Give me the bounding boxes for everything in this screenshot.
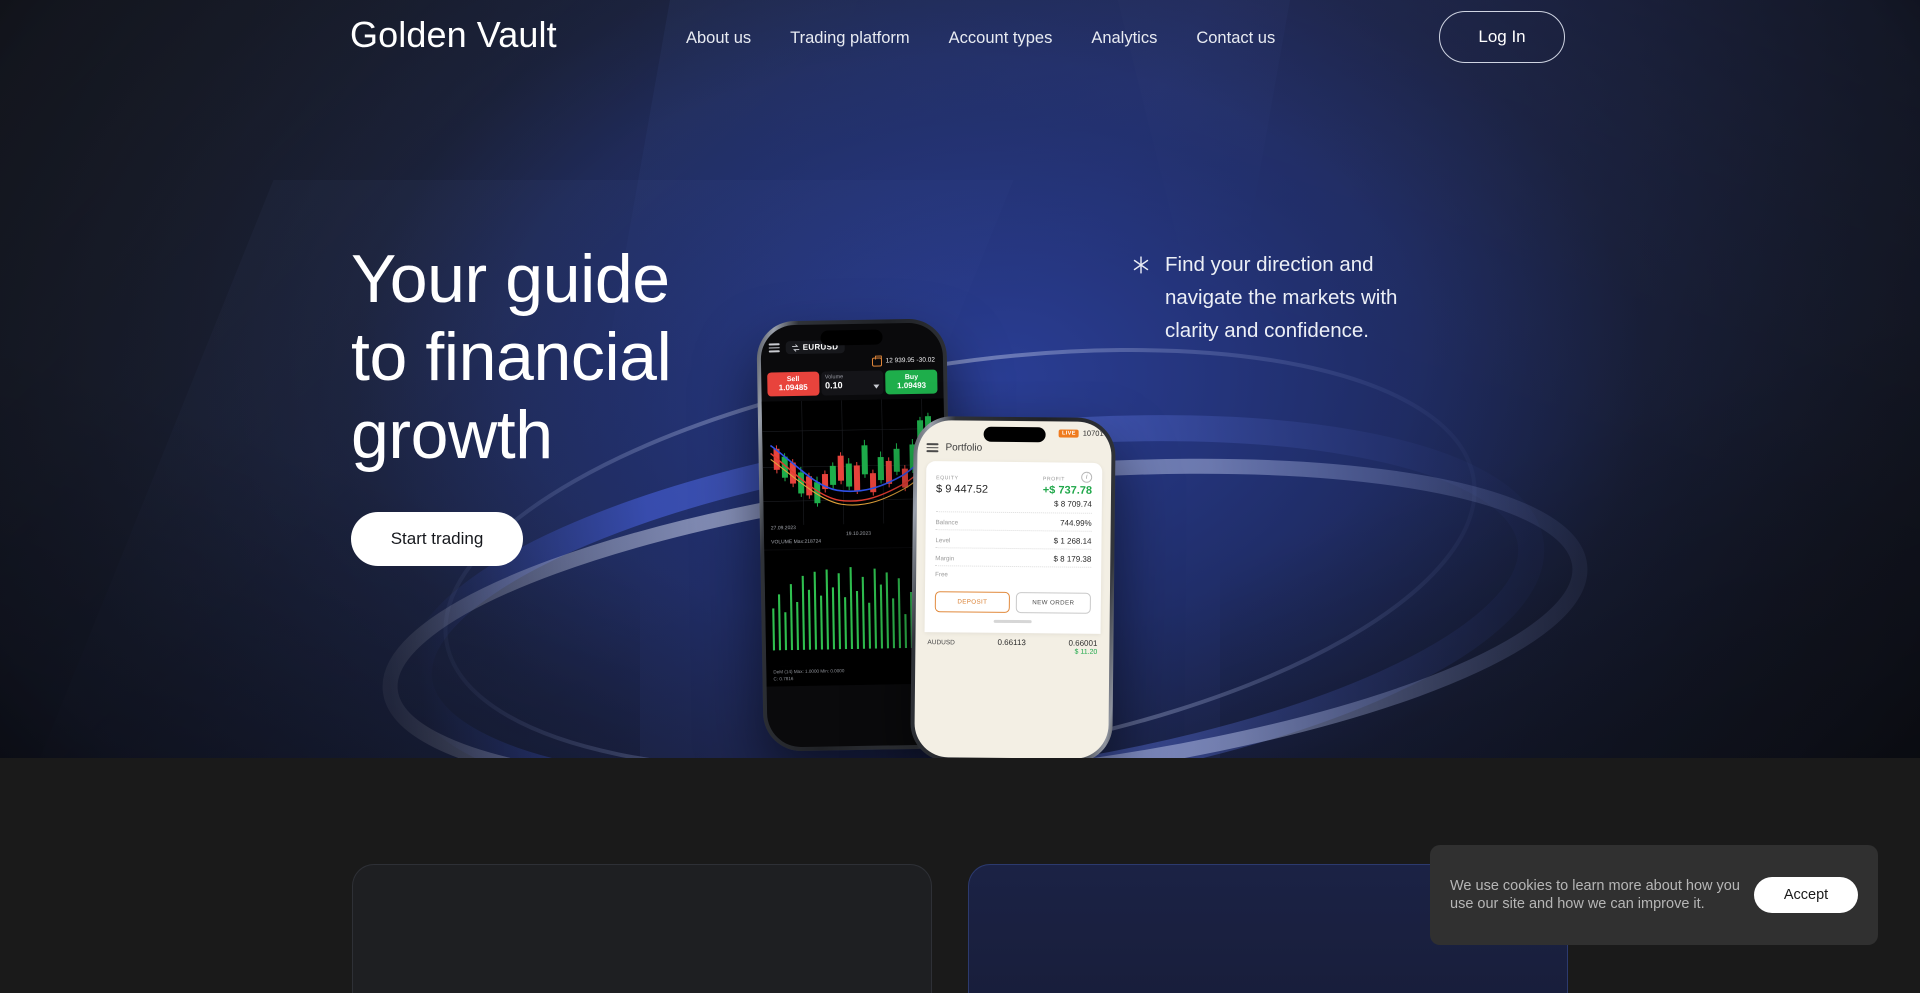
quote-bid: 0.66113	[997, 637, 1025, 646]
ticker-value: 10701	[1083, 429, 1104, 438]
row-value: $ 8 179.38	[1053, 554, 1091, 563]
portfolio-card: i EQUITY $ 9 447.52 PROFIT +$ 737.78	[925, 461, 1103, 633]
quote-pair: AUDUSD	[927, 639, 955, 646]
secondary-value: $ 8 709.74	[936, 495, 1092, 514]
background-facet	[1088, 0, 1920, 758]
phone-portfolio: LIVE 10701 Portfolio i EQUITY $ 9 447.52	[910, 416, 1116, 758]
phone-notch	[984, 427, 1046, 443]
buy-button[interactable]: Buy 1.09493	[886, 370, 938, 395]
sell-button[interactable]: Sell 1.09485	[767, 372, 819, 397]
site-header: Golden Vault About us Trading platform A…	[0, 0, 1920, 80]
sparkle-star-icon	[1131, 254, 1151, 276]
nav-item-account-types[interactable]: Account types	[949, 29, 1053, 48]
balance-value: 12 939.95	[886, 357, 915, 366]
equity-block: EQUITY $ 9 447.52	[936, 475, 988, 496]
buy-price: 1.09493	[897, 381, 926, 391]
phone-notch	[820, 329, 882, 345]
info-icon[interactable]: i	[1081, 472, 1092, 483]
nav-item-analytics[interactable]: Analytics	[1091, 29, 1157, 48]
profit-value: +$ 737.78	[1043, 484, 1092, 497]
cookie-text: We use cookies to learn more about how y…	[1450, 877, 1740, 914]
cookie-banner: We use cookies to learn more about how y…	[1430, 845, 1878, 945]
hero-tagline: Find your direction and navigate the mar…	[1131, 248, 1455, 347]
row-label: Balance	[936, 519, 958, 526]
home-indicator	[994, 620, 1032, 623]
quote-profit-row: $ 11.20	[927, 647, 1097, 656]
quote-row[interactable]: AUDUSD 0.66113 0.66001	[927, 637, 1097, 648]
volume-value: 0.10	[825, 380, 843, 390]
portfolio-row: Level $ 1 268.14	[935, 530, 1091, 550]
sell-price: 1.09485	[779, 383, 808, 393]
row-label: Margin	[935, 555, 954, 562]
main-navigation: About us Trading platform Account types …	[686, 29, 1275, 48]
row-value: 744.99%	[1060, 518, 1092, 527]
portfolio-row: Free	[935, 566, 1091, 583]
portfolio-row: Balance 744.99%	[936, 512, 1092, 532]
portfolio-screen: LIVE 10701 Portfolio i EQUITY $ 9 447.52	[914, 420, 1112, 758]
hamburger-menu-icon[interactable]	[769, 344, 780, 353]
nav-item-trading-platform[interactable]: Trading platform	[790, 29, 910, 48]
quote-profit: $ 11.20	[1074, 648, 1097, 655]
quotes-list: AUDUSD 0.66113 0.66001 $ 11.20	[915, 631, 1109, 655]
nav-item-about-us[interactable]: About us	[686, 29, 751, 48]
hamburger-menu-icon[interactable]	[926, 443, 938, 452]
phone-mockups: EURUSD 12 939.95 -30.02 Sell 1.09485	[760, 320, 1180, 758]
heading-line-3: growth	[351, 396, 671, 474]
start-trading-button[interactable]: Start trading	[351, 512, 523, 566]
quote-ask: 0.66001	[1068, 638, 1097, 647]
portfolio-actions: DEPOSIT NEW ORDER	[935, 591, 1091, 614]
row-label: Level	[935, 537, 950, 544]
volume-caption: VOLUME Max:218724	[771, 539, 821, 546]
balance-change: -30.02	[916, 357, 935, 365]
portfolio-title: Portfolio	[945, 442, 982, 453]
row-value: $ 1 268.14	[1054, 536, 1092, 545]
swap-arrows-icon	[792, 343, 800, 351]
hero-copy: Your guide to financial growth Start tra…	[351, 240, 671, 566]
accept-cookies-button[interactable]: Accept	[1754, 877, 1858, 913]
heading-line-2: to financial	[351, 318, 671, 396]
chart-date-start: 27.09.2023	[771, 525, 796, 531]
briefcase-icon	[872, 358, 882, 367]
portfolio-row: Margin $ 8 179.38	[935, 548, 1091, 568]
background-facet	[1220, 318, 1920, 758]
live-badge: LIVE	[1059, 429, 1079, 437]
brand-logo[interactable]: Golden Vault	[350, 14, 557, 56]
equity-value: $ 9 447.52	[936, 483, 988, 496]
equity-label: EQUITY	[936, 475, 988, 482]
landing-page: EURUSD 12 939.95 -30.02 Sell 1.09485	[0, 0, 1920, 993]
chart-date-end: 19.10.2023	[846, 531, 871, 537]
tagline-text: Find your direction and navigate the mar…	[1165, 248, 1455, 347]
volume-stepper[interactable]: Volume 0.10	[821, 370, 884, 395]
page-title: Your guide to financial growth	[351, 240, 671, 474]
nav-item-contact-us[interactable]: Contact us	[1196, 29, 1275, 48]
row-label: Free	[935, 571, 948, 578]
equity-profit-row: EQUITY $ 9 447.52 PROFIT +$ 737.78	[936, 475, 1092, 497]
hero-section: EURUSD 12 939.95 -30.02 Sell 1.09485	[0, 0, 1920, 758]
login-button[interactable]: Log In	[1439, 11, 1565, 63]
deposit-button[interactable]: DEPOSIT	[935, 591, 1010, 613]
order-ticket-row: Sell 1.09485 Volume 0.10 Buy 1.09493	[761, 369, 943, 396]
feature-card-left[interactable]	[352, 864, 932, 993]
new-order-button[interactable]: NEW ORDER	[1016, 592, 1091, 614]
heading-line-1: Your guide	[351, 240, 671, 318]
